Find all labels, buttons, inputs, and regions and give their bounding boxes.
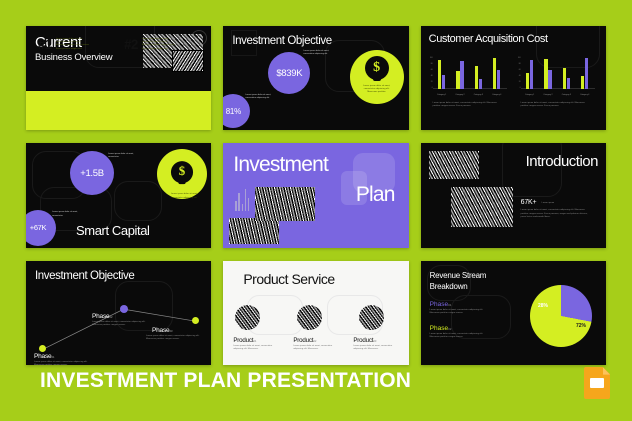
slide1-item-2-number: #2: [124, 38, 138, 52]
phase-1-label: Phase01: [34, 353, 54, 360]
revenue-pie-chart[interactable]: [530, 285, 592, 347]
slide9-title-line1: Revenue Stream: [430, 271, 487, 281]
product-image-2: [297, 305, 322, 330]
bubble-67k-label: +67K: [30, 223, 47, 232]
bar-chart-left: 100806040200 Category 1 Category 2 Categ…: [429, 54, 507, 98]
slide6-title: Introduction: [526, 153, 598, 170]
slide-thumbnail-investment-objective-timeline[interactable]: Investment Objective Phase01 Lorem ipsum…: [26, 261, 211, 365]
slide1-item-1-number: #1: [38, 38, 52, 52]
slide4-title: Smart Capital: [76, 224, 150, 238]
phase-2-label: Phase02: [92, 313, 112, 320]
product-3-label: Product03: [353, 337, 376, 344]
bubble-67k-caption: Lorem ipsum dolor sit amet, consectetur.: [52, 211, 78, 217]
slide-thumbnail-current-business-overview[interactable]: Current Business Overview #1 Lorem ipsum…: [26, 26, 211, 130]
slide-thumbnail-customer-acquisition-cost[interactable]: Customer Acquisition Cost 100806040200 C…: [421, 26, 606, 130]
bar-group: Category 4: [489, 57, 505, 89]
legend-2-body: Lorem ipsum dolor sit amet, consectetur …: [430, 333, 492, 339]
slide9-title-line2: Breakdown: [430, 282, 468, 292]
bubble-81-label: 81%: [226, 107, 241, 116]
slide-thumbnail-product-service[interactable]: Product Service Product01 Lorem ipsum do…: [223, 261, 408, 365]
bar-chart-left-caption: Lorem ipsum dolor sit amet, consectetur …: [433, 102, 499, 108]
product-1-title: Product: [233, 337, 253, 344]
bubble-lightbulb-2[interactable]: $: [157, 149, 207, 199]
pie-slice-label-72: 72%: [576, 323, 586, 329]
slide1-item-1: #1 Lorem ipsum dolor sit amet, consectet…: [38, 38, 90, 52]
phase-2-body: Lorem ipsum dolor sit amet, consectetur …: [92, 321, 148, 327]
bar-chart-right-caption: Lorem ipsum dolor sit amet, consectetur …: [521, 102, 587, 108]
slide-grid: Current Business Overview #1 Lorem ipsum…: [26, 26, 606, 365]
phase-1-title: Phase: [34, 353, 51, 360]
product-2-sub: 02: [313, 339, 316, 343]
bar-group: Category 1: [434, 57, 450, 89]
page-title: INVESTMENT PLAN PRESENTATION: [40, 369, 411, 393]
phase-3-body: Lorem ipsum dolor sit amet, consectetur …: [146, 335, 202, 341]
legend-1-sub: 01: [448, 303, 451, 307]
slide1-item-2-body: Lorem ipsum dolor sit amet, consectetur …: [142, 38, 176, 51]
slide5-title-line2: Plan: [356, 185, 395, 205]
slide1-item-2: #2 Lorem ipsum dolor sit amet, consectet…: [124, 38, 176, 52]
product-1-label: Product01: [233, 337, 256, 344]
timeline-point-1[interactable]: [39, 345, 46, 352]
bar-group: Category 1: [522, 57, 538, 89]
bar-group: Category 4: [577, 57, 593, 89]
slide3-title: Customer Acquisition Cost: [429, 34, 548, 46]
photo-office-2: [173, 51, 203, 71]
bubble-839k[interactable]: $839K: [268, 52, 310, 94]
phase-2-title: Phase: [92, 313, 109, 320]
bar-group: Category 2: [452, 57, 468, 89]
bar-group: Category 2: [540, 57, 556, 89]
bubble-839k-label: $839K: [276, 68, 302, 79]
bubble-lightbulb-caption: Lorem ipsum dolor sit amet, consectetur …: [362, 85, 392, 95]
timeline-point-2[interactable]: [120, 305, 128, 313]
lightbulb-dollar-icon: $: [365, 56, 389, 84]
slide-thumbnail-investment-objective-bubbles[interactable]: Investment Objective 81% Lorem ipsum dol…: [223, 26, 408, 130]
bar-chart-left-yaxis: 100806040200: [429, 57, 433, 89]
legend-1-title: Phase: [430, 301, 448, 308]
phase-2-sub: 02: [109, 315, 112, 319]
phase-3-title: Phase: [152, 327, 169, 334]
phase-1-body: Lorem ipsum dolor sit amet, consectetur …: [34, 361, 90, 365]
slide5-title-line1: Investment: [233, 155, 328, 175]
slide8-title: Product Service: [243, 271, 334, 287]
slide1-body-band: [26, 91, 211, 131]
slide1-title-line2: Business Overview: [35, 53, 112, 63]
bar-group: Category 3: [558, 57, 574, 89]
product-2-body: Lorem ipsum dolor sit amet, consectetur …: [293, 345, 341, 351]
legend-2-title: Phase: [430, 325, 448, 332]
photo-meeting-2: [255, 187, 315, 221]
phase-3-label: Phase03: [152, 327, 172, 334]
bubble-lightbulb-2-caption: Lorem ipsum dolor sit amet, consectetur …: [167, 193, 201, 199]
bubble-81-caption: Lorem ipsum dolor sit amet, consectetur …: [245, 94, 271, 100]
slide-thumbnail-smart-capital[interactable]: +1.5B Lorem ipsum dolor sit amet, consec…: [26, 143, 211, 247]
slide-thumbnail-investment-plan-cover[interactable]: Investment Plan: [223, 143, 408, 247]
phase-1-sub: 01: [51, 355, 54, 359]
bar-chart-right-plot: Category 1 Category 2 Category 3 Categor…: [522, 57, 593, 89]
product-2-title: Product: [293, 337, 313, 344]
product-1-body: Lorem ipsum dolor sit amet, consectetur …: [233, 345, 281, 351]
pie-slice-label-28: 28%: [538, 303, 548, 309]
bubble-1-5b-label: +1.5B: [80, 168, 104, 179]
slide-thumbnail-revenue-stream-breakdown[interactable]: Revenue Stream Breakdown Phase01 Lorem i…: [421, 261, 606, 365]
product-image-3: [359, 305, 384, 330]
legend-2-label: Phase02: [430, 325, 452, 332]
photo-intro-1: [429, 151, 479, 179]
product-3-body: Lorem ipsum dolor sit amet, consectetur …: [353, 345, 401, 351]
slide6-stat-note: Lorem ipsum: [542, 202, 560, 205]
bar-chart-left-plot: Category 1 Category 2 Category 3 Categor…: [434, 57, 505, 89]
legend-1-body: Lorem ipsum dolor sit amet, consectetur …: [430, 309, 492, 315]
bar-chart-right-yaxis: 100806040200: [517, 57, 521, 89]
photo-meeting-1: [229, 218, 279, 244]
bar-group: Category 3: [470, 57, 486, 89]
google-slides-icon: [584, 367, 610, 399]
photo-intro-2: [451, 187, 513, 227]
lightbulb-dollar-icon: $: [171, 161, 193, 187]
bar-chart-right: 100806040200 Category 1 Category 2 Categ…: [517, 54, 595, 98]
bubble-1-5b-caption: Lorem ipsum dolor sit amet, consectetur.: [108, 153, 134, 159]
product-image-1: [235, 305, 260, 330]
product-1-sub: 01: [253, 339, 256, 343]
slide2-title: Investment Objective: [232, 35, 331, 47]
legend-1-label: Phase01: [430, 301, 452, 308]
slide6-stat: 67K+: [521, 199, 537, 206]
phase-3-sub: 03: [169, 329, 172, 333]
slide6-body: Lorem ipsum dolor sit amet, consectetur …: [521, 209, 589, 219]
bubble-lightbulb[interactable]: $ Lorem ipsum dolor sit amet, consectetu…: [350, 50, 404, 104]
product-3-sub: 03: [373, 339, 376, 343]
legend-2-sub: 02: [448, 327, 451, 331]
product-2-label: Product02: [293, 337, 316, 344]
timeline-point-3[interactable]: [192, 317, 199, 324]
slide-thumbnail-introduction[interactable]: Introduction 67K+ Lorem ipsum Lorem ipsu…: [421, 143, 606, 247]
timeline-line: [26, 261, 211, 365]
bubble-839k-caption: Lorem ipsum dolor sit amet, consectetur …: [303, 50, 329, 56]
slide5-bars-deco: [235, 189, 249, 211]
product-3-title: Product: [353, 337, 373, 344]
slide1-item-1-body: Lorem ipsum dolor sit amet, consectetur …: [56, 38, 90, 51]
